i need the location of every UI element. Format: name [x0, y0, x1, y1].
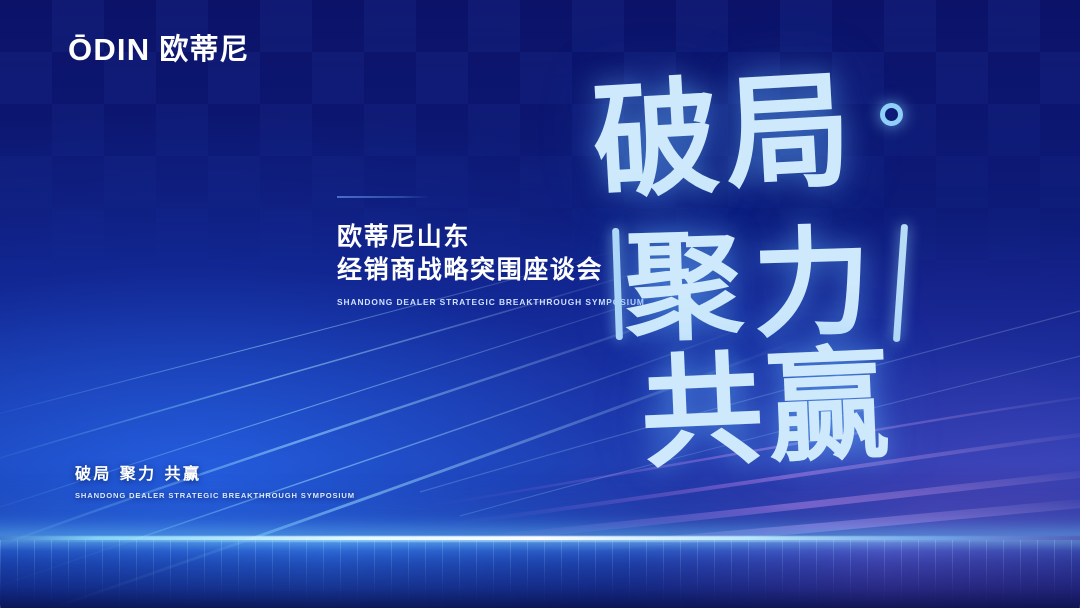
footer-slogan-lockup: 破局 聚力 共赢 SHANDONG DEALER STRATEGIC BREAK…	[75, 466, 355, 500]
logo-wordmark-chinese: 欧蒂尼	[159, 35, 249, 64]
hero-calligraphy-slogan: 破局 聚力 共赢	[575, 48, 995, 468]
event-backdrop-poster: ŌDIN 欧蒂尼 欧蒂尼山东 经销商战略突围座谈会 SHANDONG DEALE…	[0, 0, 1080, 608]
footer-slogan-english: SHANDONG DEALER STRATEGIC BREAKTHROUGH S…	[75, 491, 355, 500]
floor-gradient	[0, 540, 1080, 608]
brand-logo: ŌDIN 欧蒂尼	[68, 34, 249, 65]
title-divider-rule	[337, 196, 429, 198]
hero-line-pojue: 破局	[590, 67, 861, 208]
circle-accent-icon	[880, 103, 903, 126]
right-bar-accent	[893, 224, 908, 342]
floor-perspective-lines	[0, 540, 1080, 608]
floor-vertical-bars	[0, 540, 1080, 608]
footer-slogan-chinese: 破局 聚力 共赢	[75, 466, 355, 482]
hero-line-juli: 聚力	[623, 222, 882, 347]
hero-line-gongying: 共赢	[639, 343, 896, 475]
left-bar-accent	[612, 228, 623, 340]
horizon-glow-line	[0, 536, 1080, 542]
logo-wordmark-latin: ŌDIN	[68, 34, 150, 65]
